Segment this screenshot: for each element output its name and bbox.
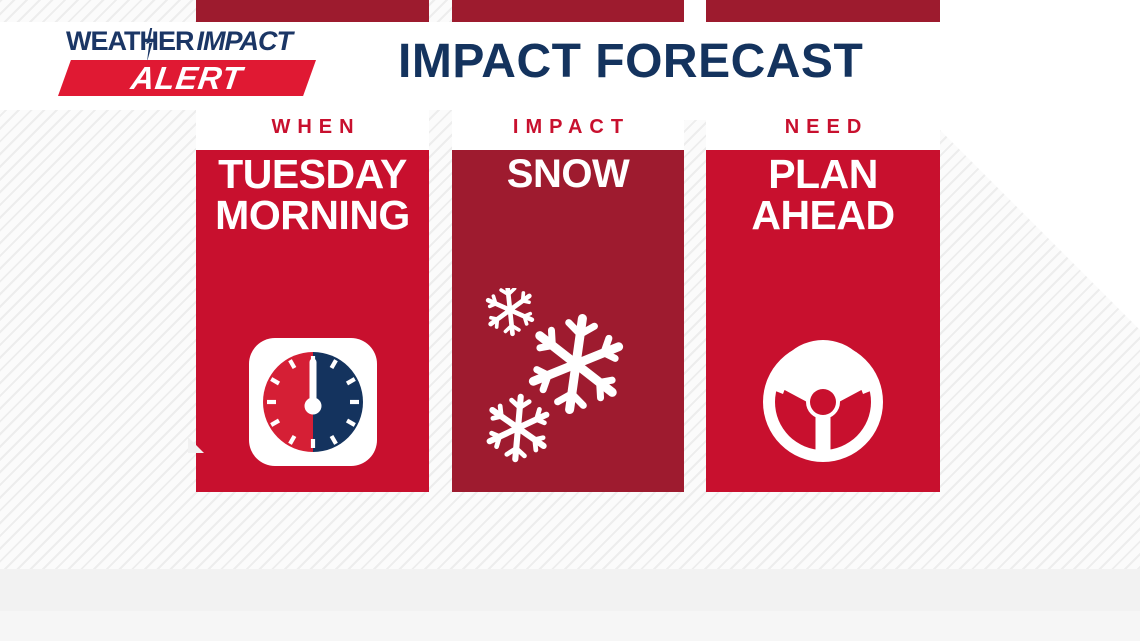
card-title-line-1: PLAN [712,154,934,195]
card-label-when: WHEN [196,104,429,150]
logo-word-weather: WEATHER [66,26,194,56]
card-title-impact: SNOW [452,154,684,195]
logo-word-alert: ALERT [55,60,318,96]
card-title-line-1: SNOW [458,154,678,195]
card-label-text: WHEN [264,116,360,139]
card-title-line-1: TUESDAY [202,154,423,195]
background-bottom-band-2 [0,611,1140,641]
card-icon-slot-need [706,338,940,466]
card-label-need: NEED [706,104,940,150]
weather-impact-alert-logo: WEATHERIMPACT ALERT [44,22,324,110]
card-label-text: IMPACT [506,116,630,139]
card-top-accent [452,0,684,22]
card-title-need: PLAN AHEAD [706,154,940,236]
card-icon-slot-when [196,338,429,466]
logo-word-impact: IMPACT [197,26,293,56]
logo-wordmark: WEATHERIMPACT [66,26,292,57]
card-top-accent [196,0,429,22]
lightning-bolt-icon [145,28,154,62]
card-label-impact: IMPACT [452,104,684,150]
card-title-when: TUESDAY MORNING [196,154,429,236]
page-title: IMPACT FORECAST [398,36,863,88]
card-title-line-2: AHEAD [712,195,934,236]
steering-wheel-icon [759,338,887,466]
card-title-line-2: MORNING [202,195,423,236]
card-label-text: NEED [778,116,869,139]
card-top-accent [706,0,940,22]
clock-icon [249,338,377,466]
card-icon-slot-impact [452,288,684,466]
snowflakes-icon [482,288,654,466]
